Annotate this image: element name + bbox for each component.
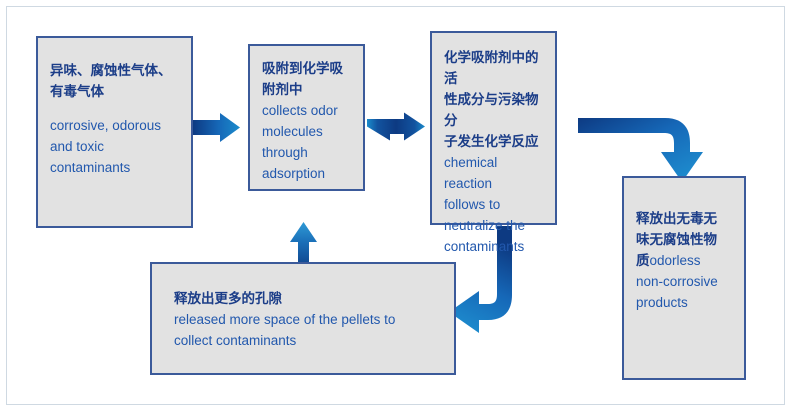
diagram-canvas: 异味、腐蚀性气体、 有毒气体 corrosive, odorous and to…: [0, 0, 800, 420]
box-input-contaminants: 异味、腐蚀性气体、 有毒气体 corrosive, odorous and to…: [36, 36, 193, 228]
box-input-contaminants-english: corrosive, odorous and toxic contaminant…: [50, 115, 179, 178]
box-adsorption-chinese: 吸附到化学吸 附剂中: [262, 58, 351, 100]
box-adsorption: 吸附到化学吸 附剂中 collects odor molecules throu…: [248, 44, 365, 191]
box-odorless-products: 释放出无毒无 味无腐蚀性物 质odorless non-corrosive pr…: [622, 176, 746, 380]
spacer: [50, 102, 179, 115]
box-chemical-reaction-english: chemical reaction follows to neutralize …: [444, 152, 543, 257]
box-chemical-reaction-chinese: 化学吸附剂中的活 性成分与污染物分 子发生化学反应: [444, 47, 543, 152]
box-adsorption-english: collects odor molecules through adsorpti…: [262, 100, 351, 184]
box-chemical-reaction: 化学吸附剂中的活 性成分与污染物分 子发生化学反应 chemical react…: [430, 31, 557, 225]
box-input-contaminants-chinese: 异味、腐蚀性气体、 有毒气体: [50, 60, 179, 102]
box-released-pores-chinese: 释放出更多的孔隙: [174, 288, 432, 309]
box-released-pores-english: released more space of the pellets to co…: [174, 309, 432, 351]
box-odorless-products-mixed: 释放出无毒无 味无腐蚀性物 质odorless non-corrosive pr…: [636, 208, 732, 313]
box-released-pores: 释放出更多的孔隙 released more space of the pell…: [150, 262, 456, 375]
